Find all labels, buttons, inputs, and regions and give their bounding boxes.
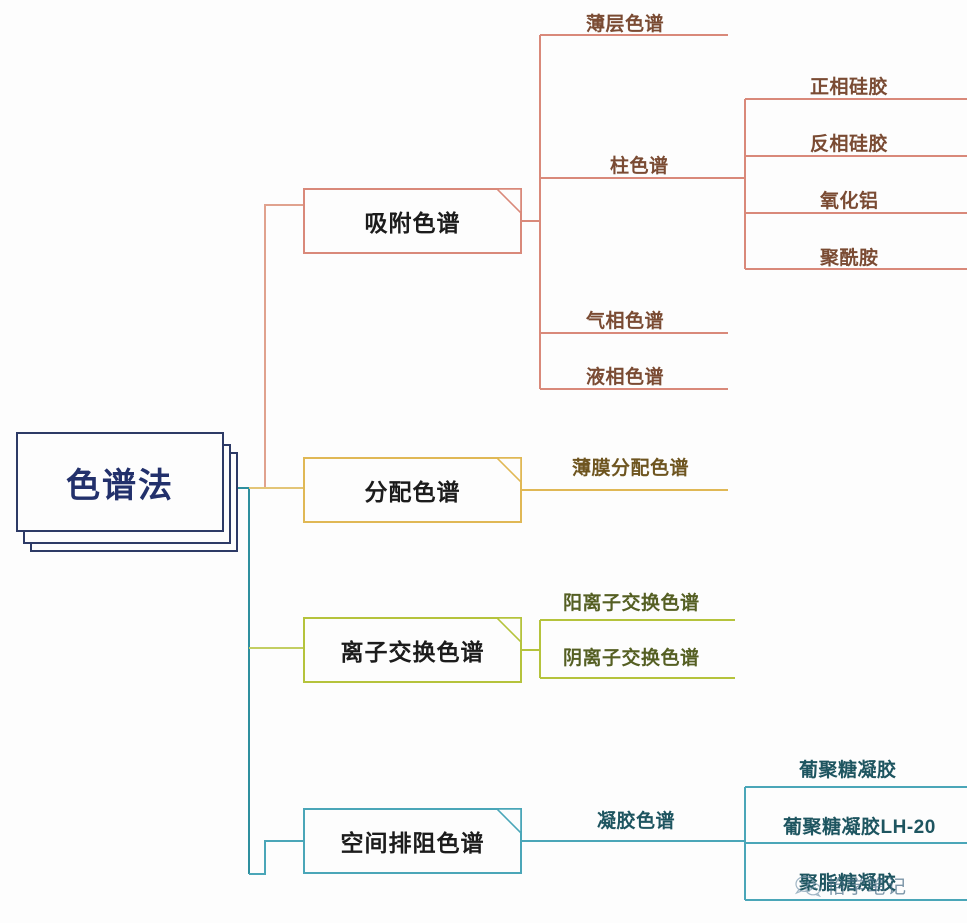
branch-node-partition[interactable]: 分配色谱 <box>303 457 522 523</box>
branch-label: 分配色谱 <box>365 473 461 507</box>
leaf-column-chromatography[interactable]: 柱色谱 <box>610 151 669 178</box>
root-card-front[interactable]: 色谱法 <box>16 432 224 532</box>
branch-node-ion-exchange[interactable]: 离子交换色谱 <box>303 617 522 683</box>
branch-node-size-exclusion[interactable]: 空间排阻色谱 <box>303 808 522 874</box>
leaf-gas-chromatography[interactable]: 气相色谱 <box>586 306 664 333</box>
leaf-cation-exchange-chromatography[interactable]: 阳离子交换色谱 <box>563 588 700 615</box>
leaf-liquid-chromatography[interactable]: 液相色谱 <box>586 362 664 389</box>
folded-corner-icon <box>497 618 521 642</box>
folded-corner-icon <box>497 458 521 482</box>
leaf-normal-phase-silica[interactable]: 正相硅胶 <box>810 72 888 99</box>
leaf-reverse-phase-silica[interactable]: 反相硅胶 <box>810 129 888 156</box>
branch-label: 吸附色谱 <box>365 204 461 238</box>
folded-corner-icon <box>497 189 521 213</box>
mindmap-canvas: 色谱法 吸附色谱 分配色谱 离子交换色谱 空间排阻色谱 <box>0 0 967 923</box>
leaf-agarose-gel[interactable]: 聚脂糖凝胶 <box>799 868 897 895</box>
branch-node-adsorption[interactable]: 吸附色谱 <box>303 188 522 254</box>
root-node[interactable]: 色谱法 <box>16 432 242 556</box>
leaf-gel-chromatography[interactable]: 凝胶色谱 <box>597 806 675 833</box>
root-label: 色谱法 <box>66 458 174 507</box>
leaf-alumina[interactable]: 氧化铝 <box>820 186 879 213</box>
leaf-thin-layer-chromatography[interactable]: 薄层色谱 <box>586 9 664 36</box>
leaf-polyamide[interactable]: 聚酰胺 <box>820 243 879 270</box>
leaf-anion-exchange-chromatography[interactable]: 阴离子交换色谱 <box>563 643 700 670</box>
branch-label: 离子交换色谱 <box>341 633 485 667</box>
leaf-dextran-gel[interactable]: 葡聚糖凝胶 <box>799 755 897 782</box>
folded-corner-icon <box>497 809 521 833</box>
leaf-thin-film-partition-chromatography[interactable]: 薄膜分配色谱 <box>572 453 689 480</box>
leaf-dextran-gel-lh20[interactable]: 葡聚糖凝胶LH-20 <box>783 812 936 839</box>
branch-label: 空间排阻色谱 <box>341 824 485 858</box>
